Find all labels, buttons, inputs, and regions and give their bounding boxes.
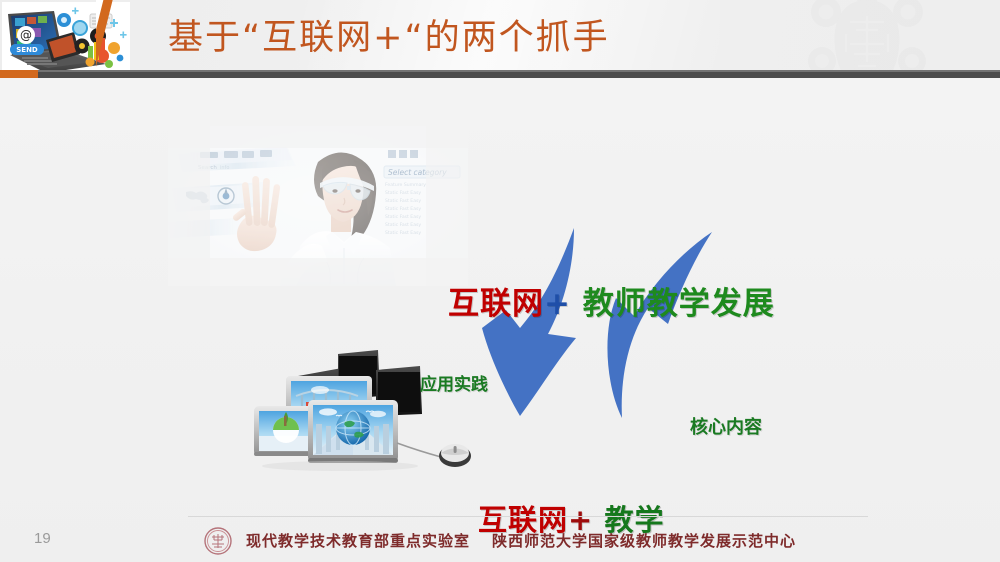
svg-text:@: @ <box>20 28 32 42</box>
svg-text:SEND: SEND <box>16 46 38 54</box>
top-headline-plus: + <box>544 286 571 322</box>
slide-header: SEND @ <box>0 0 1000 78</box>
slide-footer: 现代教学技术教育部重点实验室陕西师范大学国家级教师教学发展示范中心 19 <box>0 516 1000 562</box>
university-seal-icon <box>204 527 232 555</box>
laptop-multimedia-icon: SEND @ <box>2 2 130 76</box>
slide-canvas: SEND @ <box>0 0 1000 562</box>
slide-body: Search info <box>0 78 1000 518</box>
page-number: 19 <box>34 530 51 547</box>
header-divider-accent <box>0 70 38 78</box>
label-application-practice: 应用实践 <box>420 370 488 395</box>
footer-center-name: 陕西师范大学国家级教师教学发展示范中心 <box>492 532 796 550</box>
devices-image-monitors <box>250 340 482 472</box>
footer-rule <box>188 516 868 517</box>
footer-text: 现代教学技术教育部重点实验室陕西师范大学国家级教师教学发展示范中心 <box>246 530 796 551</box>
cycle-arrows-icon <box>468 226 718 422</box>
top-headline: 互联网+ 教师教学发展 <box>448 278 775 323</box>
top-headline-green: 教师教学发展 <box>583 286 775 322</box>
hero-image-woman-hologram: Search info <box>168 126 468 286</box>
label-core-content: 核心内容 <box>690 413 762 439</box>
header-divider-highlight <box>0 70 1000 72</box>
university-emblem-watermark-icon <box>792 0 942 78</box>
footer-lab-name: 现代教学技术教育部重点实验室 <box>246 532 470 550</box>
top-headline-red: 互联网 <box>448 286 544 322</box>
page-title: 基于“互联网+“的两个抓手 <box>168 14 610 62</box>
